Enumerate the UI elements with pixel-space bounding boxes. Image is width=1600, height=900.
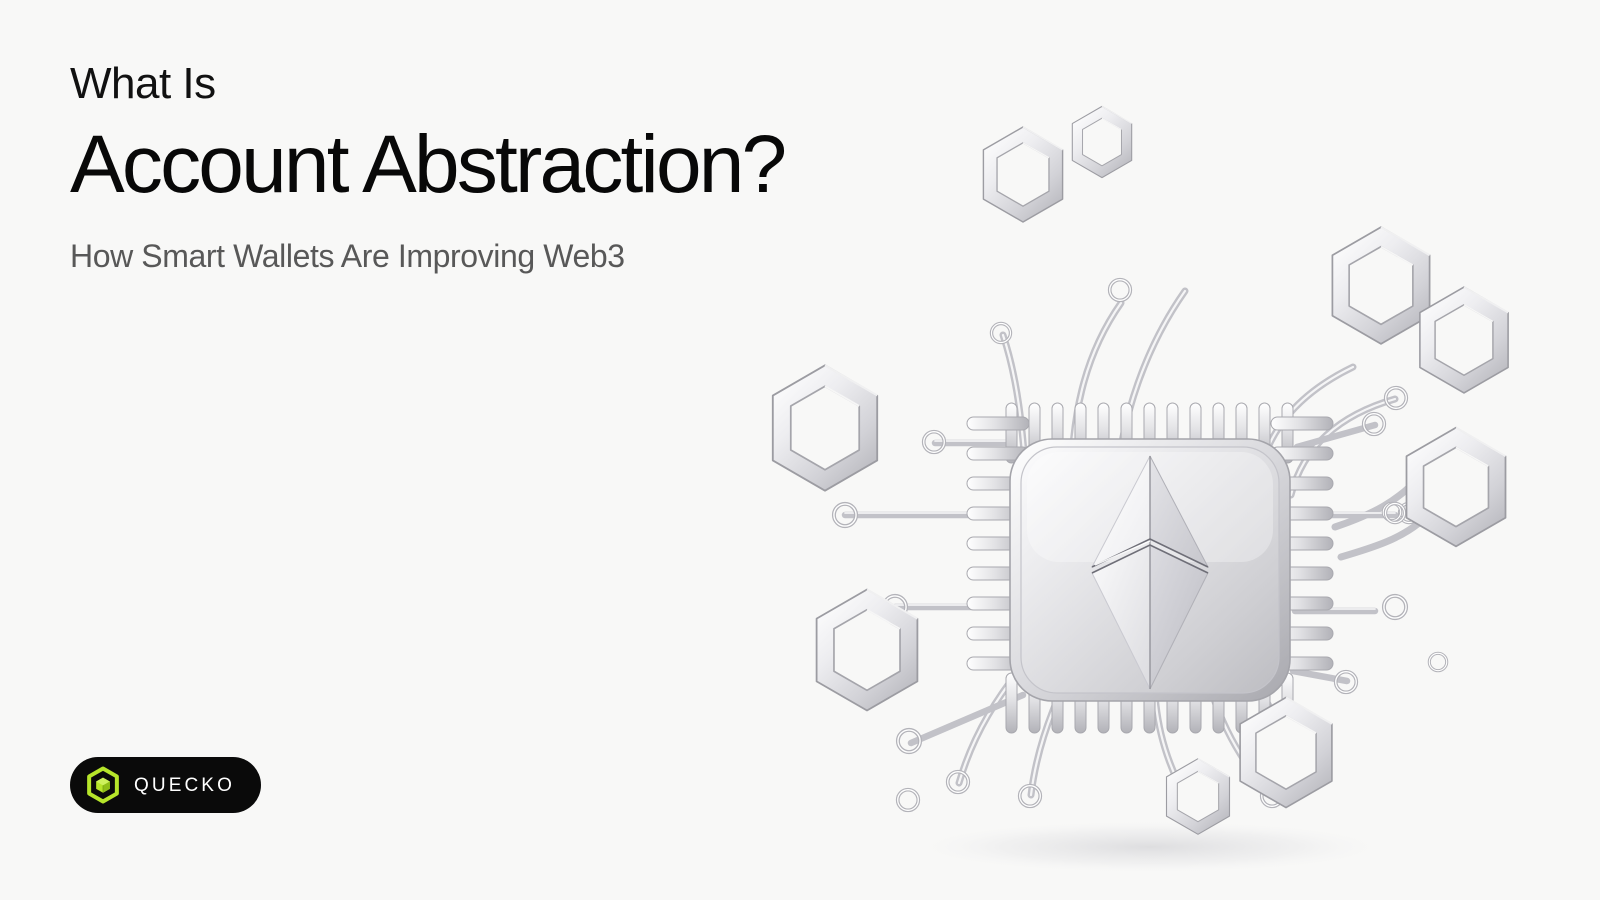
hexagon — [773, 365, 877, 490]
hexagon — [1240, 697, 1332, 807]
hexagon — [983, 127, 1062, 222]
brand-logo[interactable]: QUECKO — [70, 757, 261, 813]
hexagon — [1332, 227, 1429, 344]
brand-name: QUECKO — [134, 776, 235, 795]
poster-canvas: What Is Account Abstraction? How Smart W… — [0, 0, 1600, 900]
hexagon — [1072, 106, 1131, 177]
drop-shadow — [900, 819, 1400, 875]
hexagon-cube-icon — [84, 766, 122, 804]
hexagon — [1407, 428, 1506, 547]
hexagon — [1420, 287, 1508, 393]
ethereum-chip-illustration — [735, 95, 1565, 885]
